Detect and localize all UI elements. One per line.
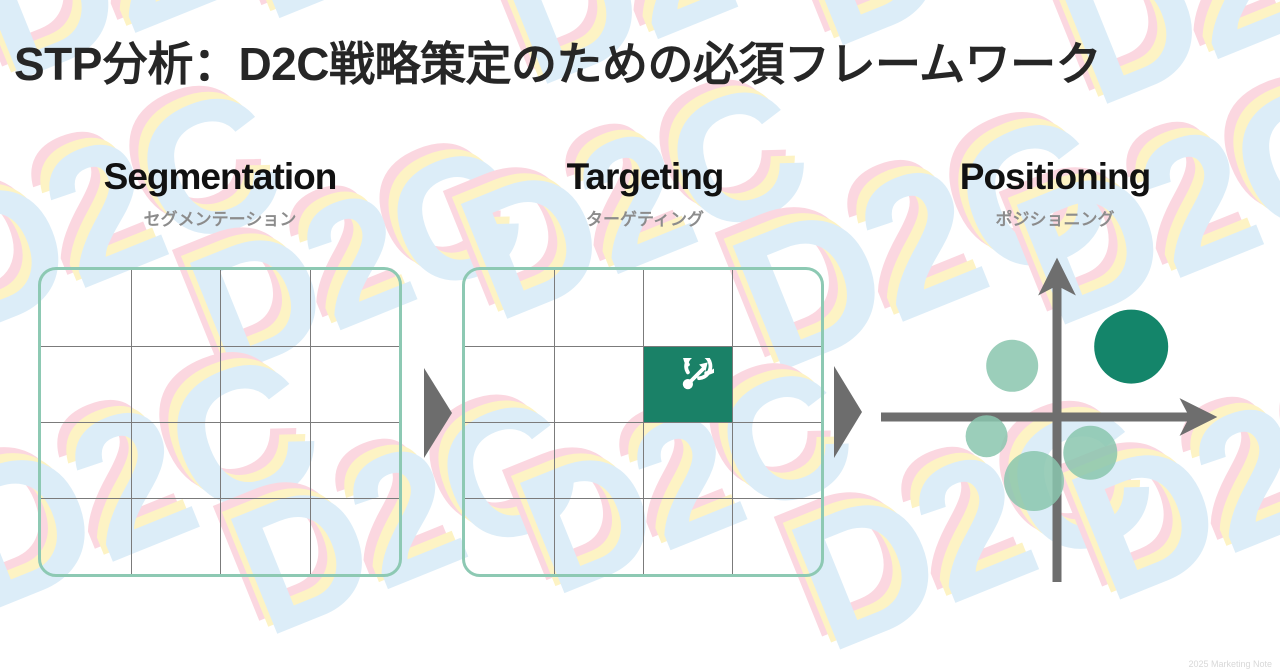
column-title: Positioning — [855, 157, 1255, 198]
grid-line-horizontal — [465, 498, 821, 499]
column-heading-targeting: Targeting ターゲティング — [445, 157, 845, 230]
bubble-competitor-d[interactable] — [1063, 426, 1117, 480]
footer-credit: 2025 Marketing Note — [1188, 659, 1272, 669]
column-subtitle: セグメンテーション — [20, 205, 420, 230]
connector-arrow-2 — [834, 366, 864, 463]
segmentation-grid[interactable] — [38, 267, 402, 577]
column-subtitle: ターゲティング — [445, 205, 845, 230]
triangle-right-icon — [424, 368, 454, 458]
column-positioning: Positioning ポジショニング — [855, 157, 1255, 230]
bubble-own-brand[interactable] — [1094, 310, 1168, 384]
highlighted-target-cell[interactable] — [643, 346, 732, 422]
grid-line-horizontal — [465, 346, 821, 347]
positioning-quadrant-chart[interactable] — [875, 255, 1220, 595]
column-title: Targeting — [445, 157, 845, 198]
connector-arrow-1 — [424, 368, 454, 463]
column-segmentation: Segmentation セグメンテーション — [20, 157, 420, 230]
grid-line-horizontal — [41, 422, 399, 423]
triangle-right-icon — [834, 366, 864, 458]
grid-line-horizontal — [41, 498, 399, 499]
grid-line-horizontal — [41, 346, 399, 347]
column-subtitle: ポジショニング — [855, 205, 1255, 230]
column-title: Segmentation — [20, 157, 420, 198]
bubble-competitor-b[interactable] — [966, 415, 1008, 457]
column-heading-positioning: Positioning ポジショニング — [855, 157, 1255, 230]
column-heading-segmentation: Segmentation セグメンテーション — [20, 157, 420, 230]
bubble-competitor-a[interactable] — [986, 340, 1038, 392]
targeting-grid[interactable] — [462, 267, 824, 577]
column-targeting: Targeting ターゲティング — [445, 157, 845, 230]
target-icon — [662, 358, 714, 410]
grid-line-horizontal — [465, 422, 821, 423]
page-title: STP分析：D2C戦略策定のための必須フレームワーク — [14, 28, 1266, 94]
bubble-competitor-c[interactable] — [1004, 451, 1064, 511]
